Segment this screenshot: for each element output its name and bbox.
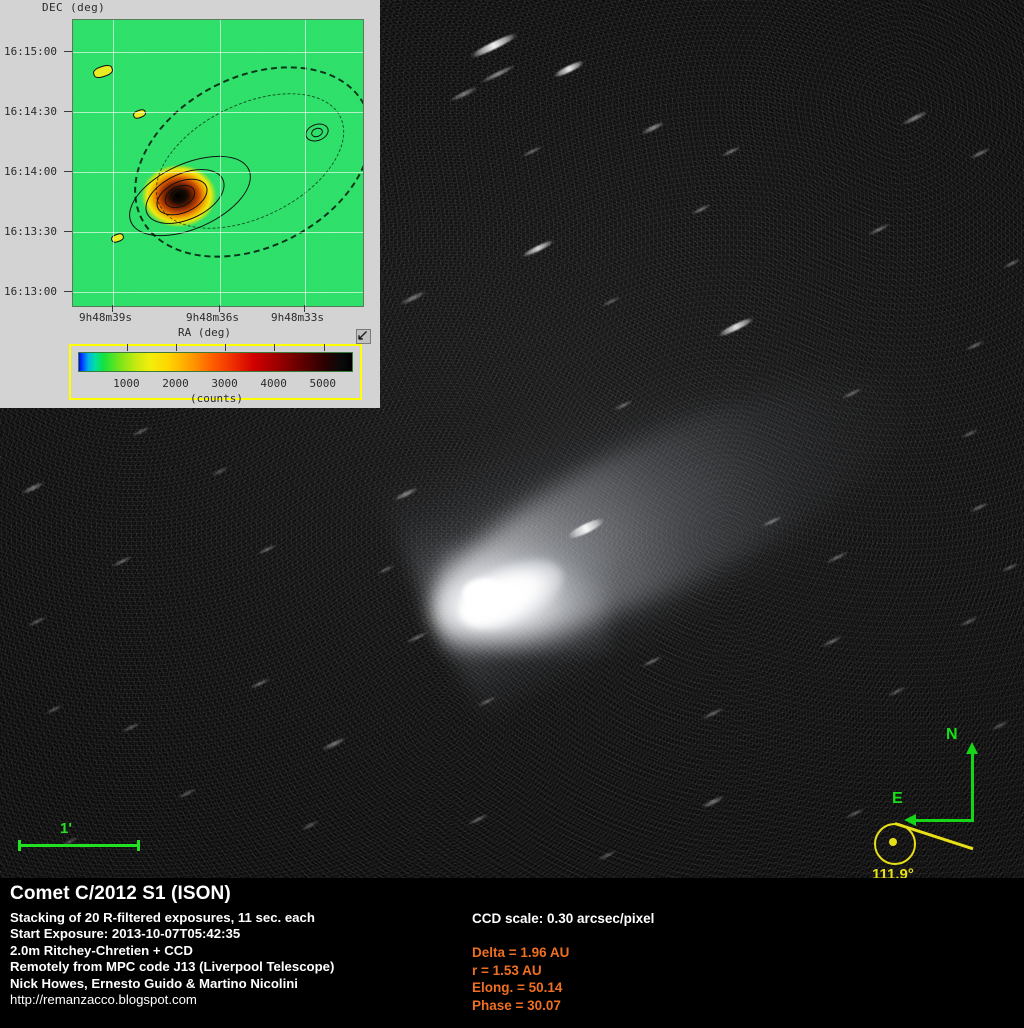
inset-y-tickmark [64,111,72,112]
east-arrow-head-icon [904,814,916,826]
north-label: N [946,726,958,744]
gridline-horizontal [73,292,363,293]
ccd-scale-label: CCD scale: 0.30 arcsec/pixel [472,911,772,926]
gridline-horizontal [73,52,363,53]
colorbar-tick-label: 5000 [310,377,337,390]
inset-y-tick: 16:14:00 [4,165,57,178]
isophote-contours [73,20,363,306]
inset-x-tickmark [304,305,305,312]
colorbar-tick-label: 2000 [162,377,189,390]
caption-line-mpc-code: Remotely from MPC code J13 (Liverpool Te… [10,959,480,975]
colorbar-tickmark [176,344,177,351]
geometry-r: r = 1.53 AU [472,962,772,980]
caption-left-block: Comet C/2012 S1 (ISON) Stacking of 20 R-… [10,883,480,1008]
inset-x-tick: 9h48m36s [186,311,239,324]
sun-direction-dot-icon [889,838,897,846]
caption-line-authors: Nick Howes, Ernesto Guido & Martino Nico… [10,976,480,992]
caption-line-telescope: 2.0m Ritchey-Chretien + CCD [10,943,480,959]
caption-url[interactable]: http://remanzacco.blogspot.com [10,992,480,1008]
gridline-horizontal [73,112,363,113]
colorbar-tick-label: 3000 [211,377,238,390]
caption-banner: Comet C/2012 S1 (ISON) Stacking of 20 R-… [0,878,1024,1028]
east-label: E [892,790,903,808]
north-arrow-shaft [971,750,974,822]
east-arrow-shaft [915,819,974,822]
colorbar-tickmark [127,344,128,351]
inset-y-axis-title: DEC (deg) [42,1,105,14]
resize-diagonal-icon[interactable] [356,329,371,344]
field-star-blob [92,63,114,80]
gridline-horizontal [73,172,363,173]
inset-x-tickmark [112,305,113,312]
colorbar-units-label: (counts) [190,392,243,405]
inset-y-tick: 16:15:00 [4,45,57,58]
inset-y-tick: 16:13:30 [4,225,57,238]
inset-x-tick: 9h48m39s [79,311,132,324]
north-arrow-head-icon [966,742,978,754]
colorbar-tickmark [274,344,275,351]
inset-y-tickmark [64,51,72,52]
inset-y-tickmark [64,231,72,232]
gridline-horizontal [73,232,363,233]
colorbar-tickmark [324,344,325,351]
scalebar-label: 1' [60,820,72,837]
isophote-inset-panel[interactable]: DEC (deg) 16:15:0016:14:3016:14:0016:13:… [0,0,380,408]
page-title: Comet C/2012 S1 (ISON) [10,883,480,905]
comet-nucleus [462,578,506,610]
inset-x-tick: 9h48m33s [271,311,324,324]
colorbar-gradient [78,352,353,372]
screenshot-root: 1' N E 111.9° DEC (deg) 16: [0,0,1024,1028]
caption-line-exposures: Stacking of 20 R-filtered exposures, 11 … [10,910,480,926]
geometry-elongation: Elong. = 50.14 [472,979,772,997]
inset-y-tickmark [64,171,72,172]
isophote-plot-area[interactable] [72,19,364,307]
field-star-blob [132,108,147,120]
scalebar-cap-left [18,840,21,851]
inset-y-tick: 16:14:30 [4,105,57,118]
geometry-phase: Phase = 30.07 [472,997,772,1015]
scalebar-line [18,844,140,847]
caption-right-block: CCD scale: 0.30 arcsec/pixel Delta = 1.9… [472,911,772,1014]
gridline-vertical [113,20,114,306]
colorbar-tick-label: 1000 [113,377,140,390]
inset-y-tick: 16:13:00 [4,285,57,298]
inset-x-axis-title: RA (deg) [178,326,231,339]
compass-rose: N E 111.9° [870,730,1015,870]
sun-angle-label: 111.9° [872,866,914,878]
geometry-delta: Delta = 1.96 AU [472,944,772,962]
gridline-vertical [220,20,221,306]
inset-y-tickmark [64,291,72,292]
colorbar-tickmark [225,344,226,351]
gridline-vertical [305,20,306,306]
scalebar-cap-right [137,840,140,851]
scalebar [18,840,140,850]
caption-line-start-exposure: Start Exposure: 2013-10-07T05:42:35 [10,926,480,942]
inset-x-tickmark [219,305,220,312]
colorbar-tick-label: 4000 [260,377,287,390]
